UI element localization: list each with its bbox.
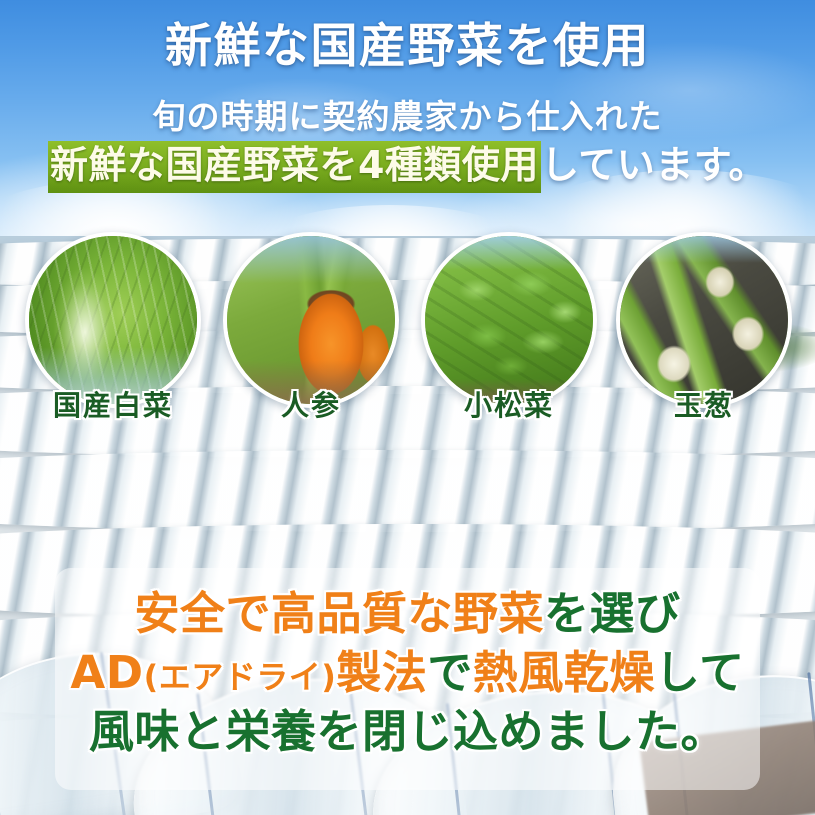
- bottom-line-2-seihou: 製法: [336, 646, 427, 699]
- komatsuna-icon: [425, 236, 593, 404]
- page-title: 新鮮な国産野菜を使用: [0, 22, 815, 72]
- bottom-line-1-orange: 安全で高品質な野菜: [134, 587, 544, 640]
- tunnel-rib: [0, 669, 4, 815]
- onion-icon: [620, 236, 788, 404]
- bottom-message-line-1: 安全で高品質な野菜を選び: [55, 577, 760, 642]
- bottom-line-2-shite: して: [655, 646, 745, 699]
- vegetable-photo-onion: [616, 232, 792, 408]
- vegetable-item-carrot: 人参: [223, 232, 399, 408]
- carrot-icon: [227, 236, 395, 404]
- subtitle-line-2-tail: しています。: [541, 143, 767, 187]
- bottom-message-line-2: AD(エアドライ)製法で熱風乾燥して: [55, 636, 760, 701]
- vegetable-label-chinese-cabbage: 国産白菜: [25, 384, 201, 424]
- vegetable-photo-komatsuna: [421, 232, 597, 408]
- poster-root: 新鮮な国産野菜を使用 旬の時期に契約農家から仕入れた 新鮮な国産野菜を4種類使用…: [0, 0, 815, 815]
- vegetable-item-chinese-cabbage: 国産白菜: [25, 232, 201, 408]
- bottom-line-2-kana: (エアドライ): [144, 658, 337, 696]
- bottom-line-2-nepputaikansou: 熱風乾燥: [473, 646, 655, 699]
- vegetable-circle-row: 国産白菜 人参 小松菜 玉葱: [0, 230, 815, 440]
- vegetable-label-carrot: 人参: [223, 384, 399, 424]
- bottom-line-2-ad: AD: [70, 646, 143, 699]
- chinese-cabbage-icon: [29, 236, 197, 404]
- vegetable-item-komatsuna: 小松菜: [421, 232, 597, 408]
- subtitle-line-2: 新鮮な国産野菜を4種類使用しています。: [0, 146, 815, 186]
- vegetable-photo-chinese-cabbage: [25, 232, 201, 408]
- bottom-message-panel: 安全で高品質な野菜を選び AD(エアドライ)製法で熱風乾燥して 風味と栄養を閉じ…: [55, 568, 760, 790]
- highlighted-phrase: 新鮮な国産野菜を4種類使用: [48, 141, 541, 193]
- greenhouse-row: [0, 450, 815, 532]
- vegetable-label-onion: 玉葱: [616, 384, 792, 424]
- vegetable-item-onion: 玉葱: [616, 232, 792, 408]
- bottom-message-line-3: 風味と栄養を閉じ込めました。: [55, 695, 760, 760]
- subtitle-line-1: 旬の時期に契約農家から仕入れた: [0, 100, 815, 135]
- vegetable-label-komatsuna: 小松菜: [421, 384, 597, 424]
- vegetable-photo-carrot: [223, 232, 399, 408]
- bottom-line-1-green: を選び: [544, 587, 681, 640]
- bottom-line-2-de: で: [427, 646, 473, 699]
